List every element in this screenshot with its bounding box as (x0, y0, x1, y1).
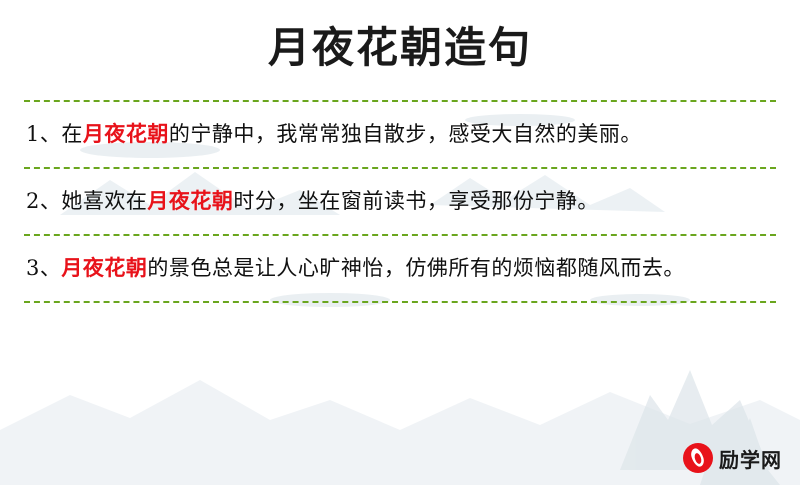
sentence-3-part-0: 3、 (26, 256, 61, 280)
sentence-1-part-2: 的宁静中，我常常独自散步，感受大自然的美丽。 (169, 122, 642, 146)
sentence-list: 1、在月夜花朝的宁静中，我常常独自散步，感受大自然的美丽。 2、她喜欢在月夜花朝… (24, 100, 776, 303)
watermark-logo: 励学网 (683, 443, 782, 473)
flame-logo-icon (683, 443, 713, 473)
sentence-2-part-0: 2、她喜欢在 (26, 189, 147, 213)
sentence-3-keyword: 月夜花朝 (61, 255, 147, 280)
watermark-text: 励学网 (719, 444, 782, 473)
sentence-item-3: 3、月夜花朝的景色总是让人心旷神怡，仿佛所有的烦恼都随风而去。 (24, 236, 776, 301)
sentence-1-part-0: 1、在 (26, 122, 83, 146)
sentence-item-1: 1、在月夜花朝的宁静中，我常常独自散步，感受大自然的美丽。 (24, 102, 776, 167)
divider-bottom (24, 301, 776, 303)
sentence-item-2: 2、她喜欢在月夜花朝时分，坐在窗前读书，享受那份宁静。 (24, 169, 776, 234)
document-page: 月夜花朝造句 1、在月夜花朝的宁静中，我常常独自散步，感受大自然的美丽。 2、她… (0, 0, 800, 485)
sentence-2-keyword: 月夜花朝 (147, 188, 233, 213)
sentence-3-part-2: 的景色总是让人心旷神怡，仿佛所有的烦恼都随风而去。 (147, 256, 685, 280)
page-title: 月夜花朝造句 (0, 14, 800, 75)
sentence-1-keyword: 月夜花朝 (83, 121, 169, 146)
sentence-2-part-2: 时分，坐在窗前读书，享受那份宁静。 (233, 189, 599, 213)
